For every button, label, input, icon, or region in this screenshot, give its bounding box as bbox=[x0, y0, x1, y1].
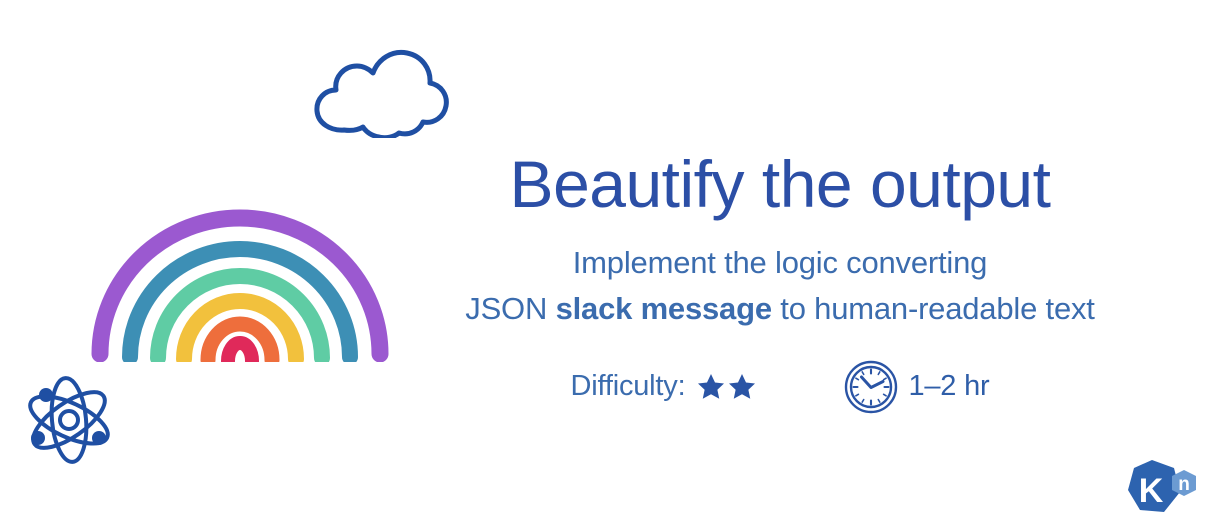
slide-subtitle: Implement the logic converting JSON slac… bbox=[400, 240, 1160, 333]
star-icon bbox=[727, 372, 757, 402]
clock-icon bbox=[843, 359, 899, 415]
star-icon bbox=[696, 372, 726, 402]
subtitle-line-1: Implement the logic converting bbox=[400, 240, 1160, 287]
subtitle-emphasis: slack message bbox=[556, 291, 772, 326]
subtitle-line-2: JSON slack message to human-readable tex… bbox=[400, 286, 1160, 333]
logo-letter-n: n bbox=[1178, 474, 1190, 495]
difficulty-meta: Difficulty: bbox=[571, 370, 758, 403]
meta-row: Difficulty: bbox=[400, 359, 1160, 415]
subtitle-prefix: JSON bbox=[465, 291, 555, 326]
page-title: Beautify the output bbox=[400, 150, 1160, 220]
slide-canvas: Beautify the output Implement the logic … bbox=[0, 0, 1216, 532]
duration-meta: 1–2 hr bbox=[843, 359, 989, 415]
slide-text-block: Beautify the output Implement the logic … bbox=[400, 150, 1160, 415]
difficulty-label: Difficulty: bbox=[571, 370, 686, 403]
kn-logo[interactable]: K n bbox=[1124, 454, 1202, 524]
logo-letter-k: K bbox=[1139, 472, 1164, 510]
difficulty-rating bbox=[696, 372, 757, 402]
duration-label: 1–2 hr bbox=[908, 370, 989, 403]
cloud-doodle bbox=[300, 38, 456, 138]
atom-doodle bbox=[20, 372, 118, 468]
subtitle-suffix: to human-readable text bbox=[772, 291, 1095, 326]
rainbow-doodle bbox=[82, 186, 398, 362]
